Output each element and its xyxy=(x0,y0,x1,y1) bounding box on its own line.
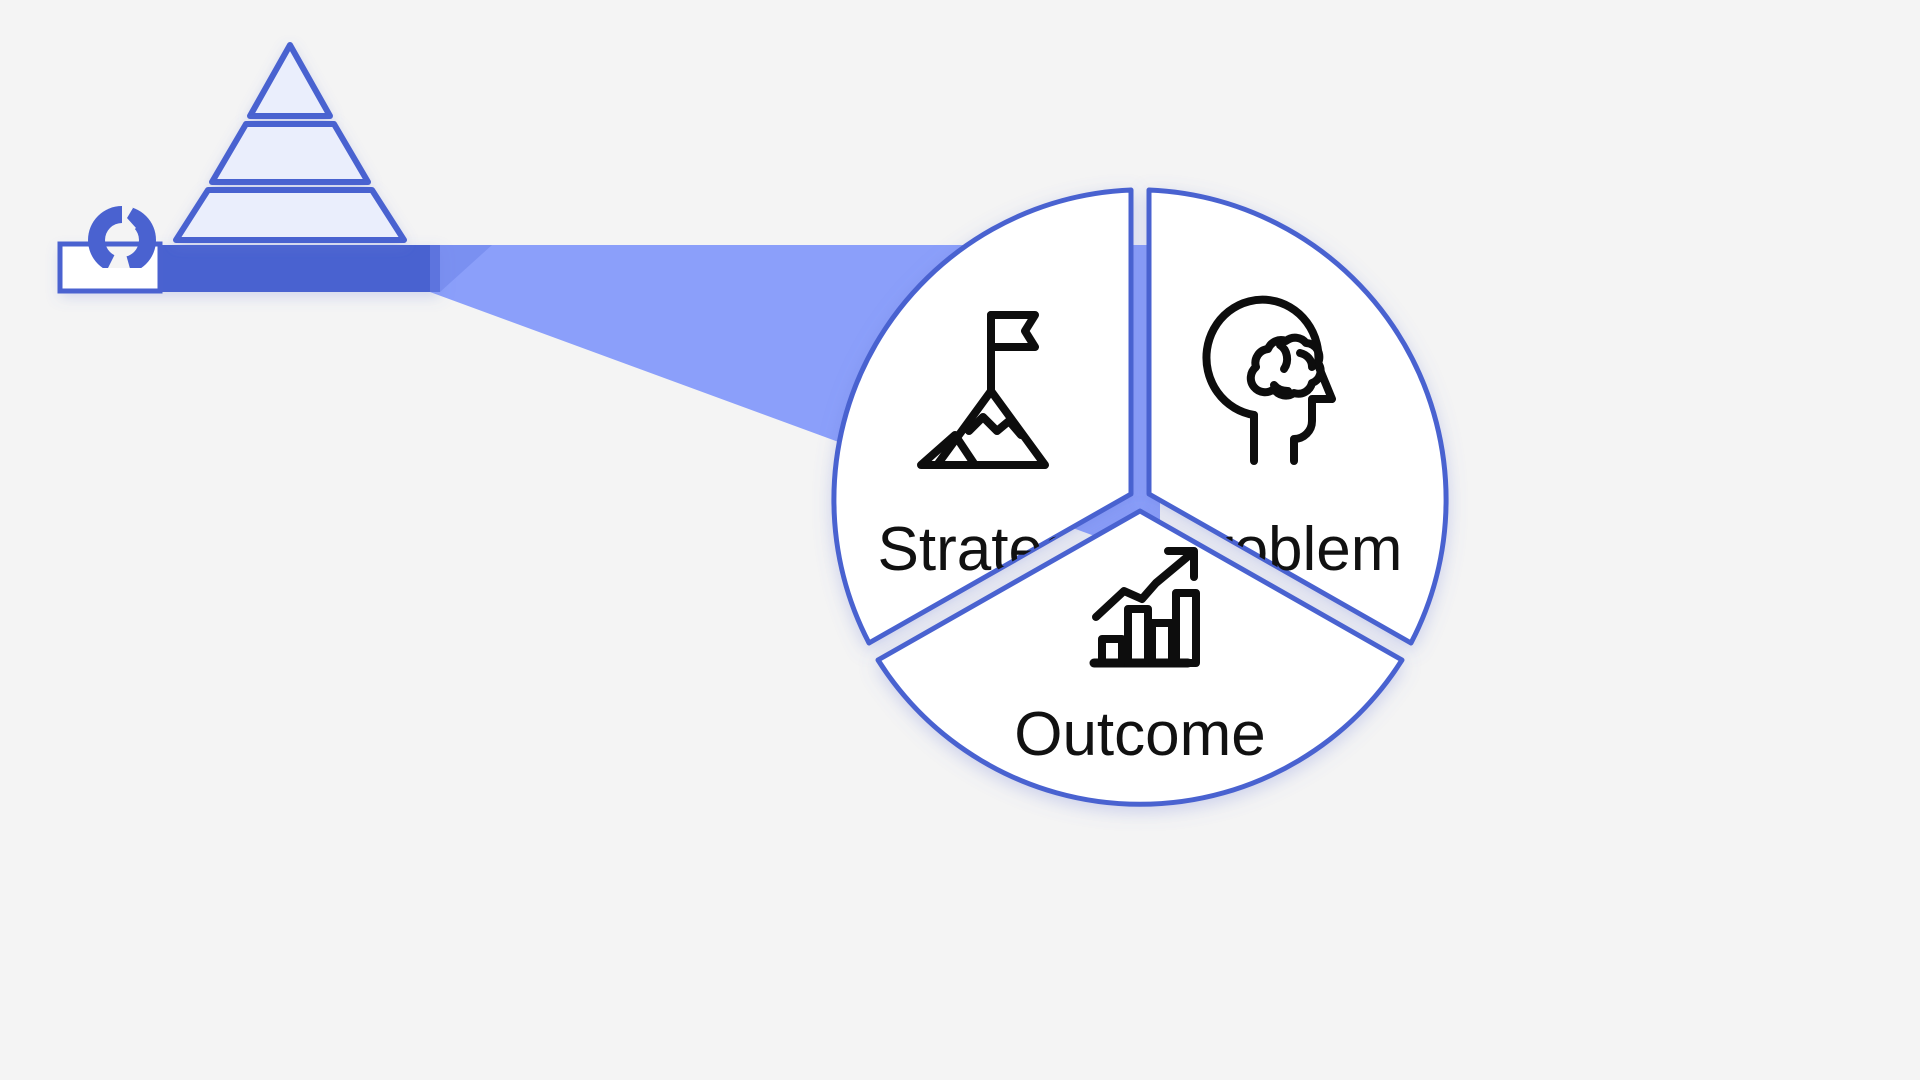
segment-outcome-label: Outcome xyxy=(1014,700,1266,769)
diagram-canvas: Strategy xyxy=(0,0,1920,1080)
pyramid-tier-3 xyxy=(176,190,404,240)
diagram-scene: Strategy xyxy=(0,0,1920,1080)
logo-card-front xyxy=(62,268,158,289)
